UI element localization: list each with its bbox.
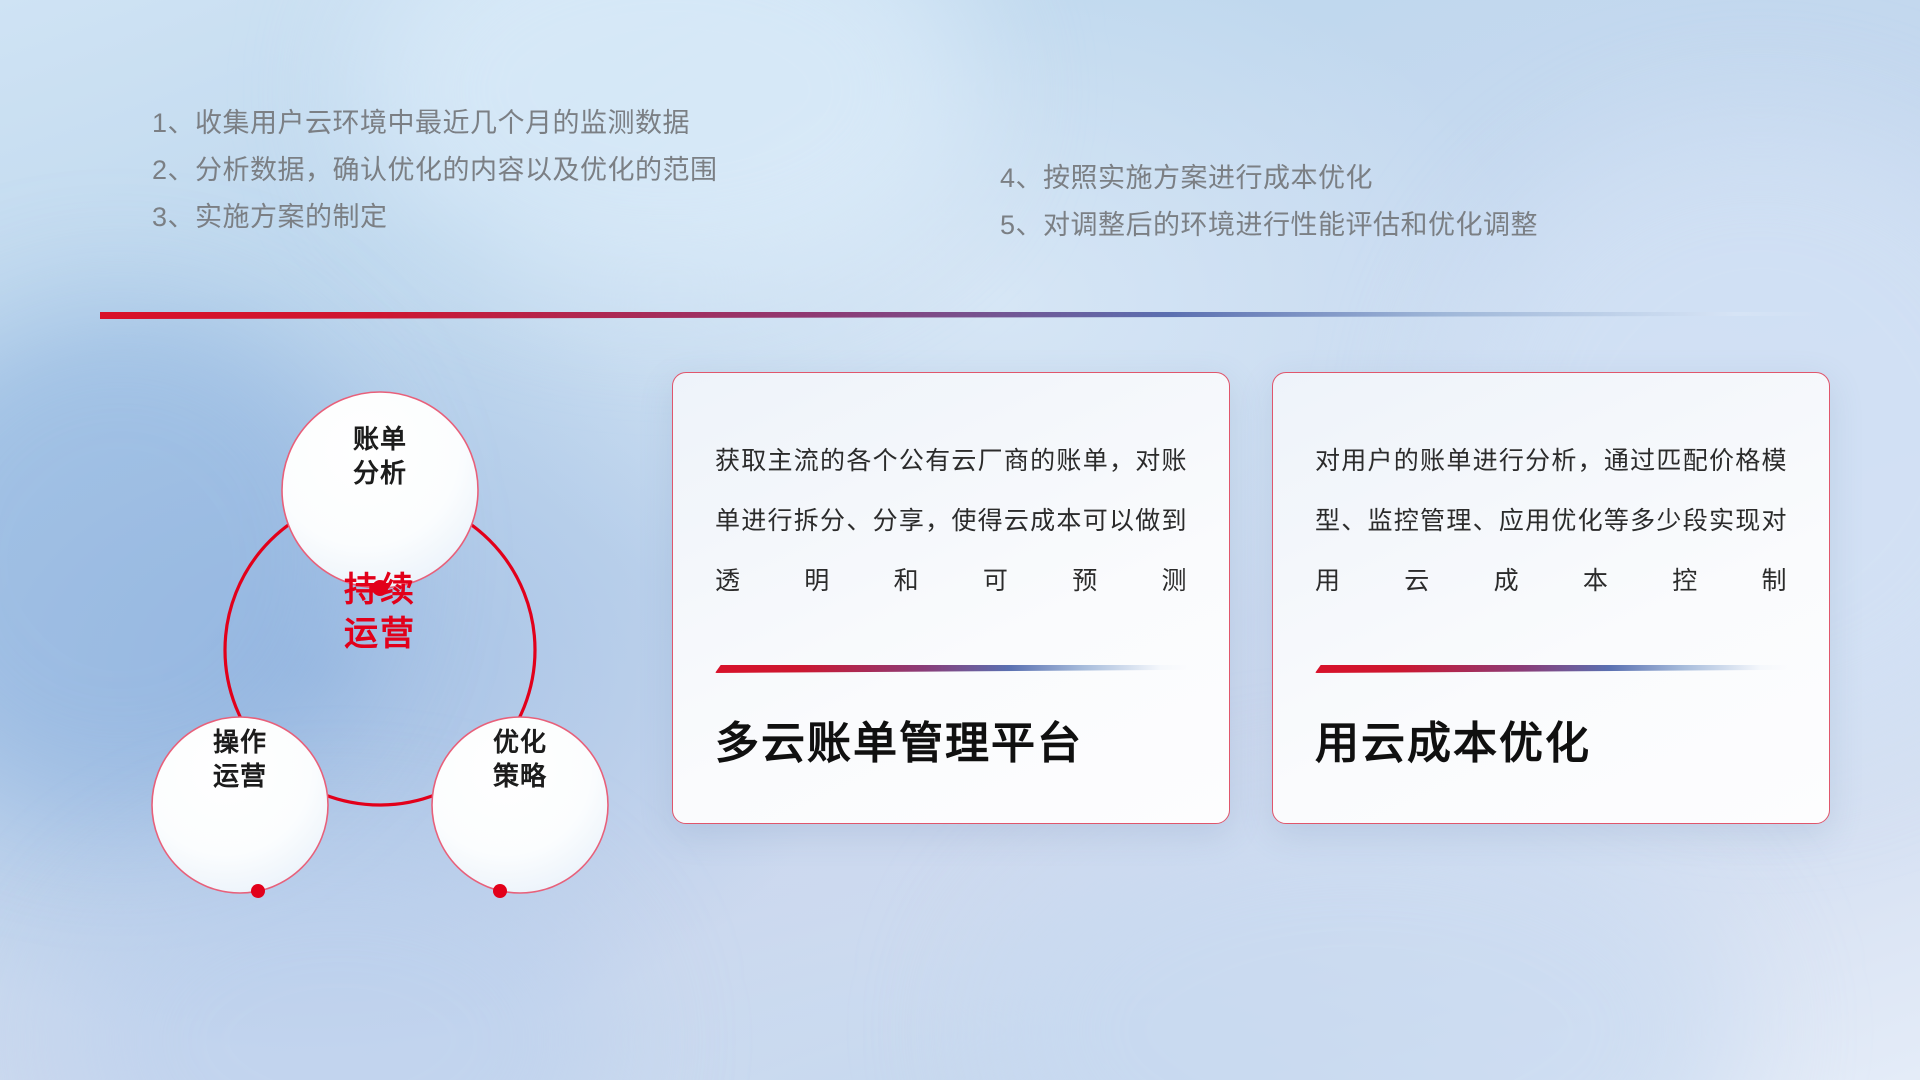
card-body-text: 获取主流的各个公有云厂商的账单，对账单进行拆分、分享，使得云成本可以做到透明和可…	[715, 431, 1187, 671]
card-title: 用云成本优化	[1315, 707, 1591, 771]
step-item-4: 4、按照实施方案进行成本优化	[1000, 155, 1538, 202]
step-item-1: 1、收集用户云环境中最近几个月的监测数据	[152, 100, 718, 147]
continuous-operation-diagram: 账单 分析 操作 运营 优化 策略 持续 运营	[100, 350, 620, 930]
card-title: 多云账单管理平台	[715, 707, 1083, 771]
background-blob	[980, 800, 1740, 1080]
step-item-3: 3、实施方案的制定	[152, 194, 718, 241]
node-label-ops-operation: 操作 运营	[150, 725, 330, 793]
steps-right-column: 4、按照实施方案进行成本优化 5、对调整后的环境进行性能评估和优化调整	[1000, 155, 1538, 249]
connector-dot-bottom-right	[493, 884, 507, 898]
step-item-5: 5、对调整后的环境进行性能评估和优化调整	[1000, 202, 1538, 249]
section-divider-bar	[100, 312, 1822, 319]
card-cloud-cost-optimization[interactable]: 对用户的账单进行分析，通过匹配价格模型、监控管理、应用优化等多少段实现对用云成本…	[1272, 372, 1830, 824]
slide-canvas: 1、收集用户云环境中最近几个月的监测数据 2、分析数据，确认优化的内容以及优化的…	[0, 0, 1920, 1080]
node-label-optimize-policy: 优化 策略	[430, 725, 610, 793]
steps-left-column: 1、收集用户云环境中最近几个月的监测数据 2、分析数据，确认优化的内容以及优化的…	[152, 100, 718, 241]
card-multi-cloud-billing[interactable]: 获取主流的各个公有云厂商的账单，对账单进行拆分、分享，使得云成本可以做到透明和可…	[672, 372, 1230, 824]
node-label-bill-analysis: 账单 分析	[290, 422, 470, 490]
connector-dot-bottom-left	[251, 884, 265, 898]
card-divider	[715, 665, 1189, 673]
steps-section: 1、收集用户云环境中最近几个月的监测数据 2、分析数据，确认优化的内容以及优化的…	[0, 0, 1920, 270]
card-body-text: 对用户的账单进行分析，通过匹配价格模型、监控管理、应用优化等多少段实现对用云成本…	[1315, 431, 1787, 671]
card-divider	[1315, 665, 1789, 673]
section-divider	[100, 312, 1822, 319]
step-item-2: 2、分析数据，确认优化的内容以及优化的范围	[152, 147, 718, 194]
diagram-center-label: 持续 运营	[280, 568, 480, 656]
